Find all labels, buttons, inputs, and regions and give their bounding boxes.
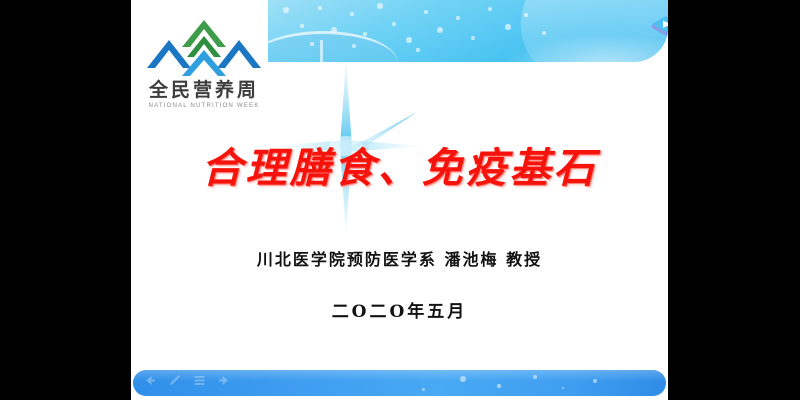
footer-glint [533, 375, 537, 379]
slide-date: 二O二O年五月 [131, 297, 668, 322]
nnw-chinese-name: 全民营养周 [143, 81, 265, 101]
video-player-frame: 腾讯课堂 全民营养周 NATIONAL NUTRITION WEEK [0, 0, 800, 400]
footer-glint [460, 376, 465, 381]
tencent-classroom-brand: 腾讯课堂 [651, 15, 668, 43]
nnw-english-name: NATIONAL NUTRITION WEEK [143, 102, 265, 109]
footer-toolbar-icons[interactable] [143, 374, 231, 387]
bubble-particle [488, 7, 492, 11]
banner-arch-shape [268, 31, 398, 62]
presentation-slide: 腾讯课堂 全民营养周 NATIONAL NUTRITION WEEK [131, 0, 668, 400]
slide-title: 合理膳食、免疫基石 [131, 143, 668, 194]
bubble-particle [377, 3, 383, 9]
bubble-particle [363, 32, 367, 36]
decorative-header-banner: 腾讯课堂 [268, 0, 668, 62]
bubble-particle [350, 12, 355, 17]
footer-glint [593, 379, 597, 383]
bubble-particle [392, 22, 396, 26]
bubble-particle [406, 37, 411, 42]
bubble-particle [300, 24, 304, 28]
graduation-cap-play-icon [651, 15, 668, 43]
bubble-particle [352, 44, 356, 48]
footer-glint [497, 384, 500, 387]
bubble-particle [524, 13, 528, 17]
bubble-particle [318, 6, 322, 10]
bubble-particle [416, 48, 419, 51]
banner-swoosh-shape [506, 0, 668, 62]
bubble-particle [424, 10, 428, 14]
list-icon[interactable] [193, 374, 206, 387]
bubble-particle [331, 27, 337, 33]
back-arrow-icon[interactable] [143, 374, 156, 387]
presenter-affiliation-line: 川北医学院预防医学系 潘池梅 教授 [131, 246, 668, 270]
bubble-particle [310, 42, 313, 45]
banner-arch-stem-shape [320, 40, 323, 62]
footer-glint [422, 388, 425, 391]
slide-footer-bar [133, 370, 666, 396]
footer-glint [562, 387, 565, 390]
bubble-particle [283, 7, 290, 14]
bubble-particle [505, 24, 510, 29]
triple-chevron-mountain-icon [143, 14, 265, 80]
national-nutrition-week-logo: 全民营养周 NATIONAL NUTRITION WEEK [143, 14, 265, 109]
bubble-particle [471, 36, 476, 41]
bubble-particle [456, 16, 460, 20]
forward-arrow-icon[interactable] [218, 374, 231, 387]
bubble-particle [437, 27, 443, 33]
pen-icon[interactable] [168, 374, 181, 387]
